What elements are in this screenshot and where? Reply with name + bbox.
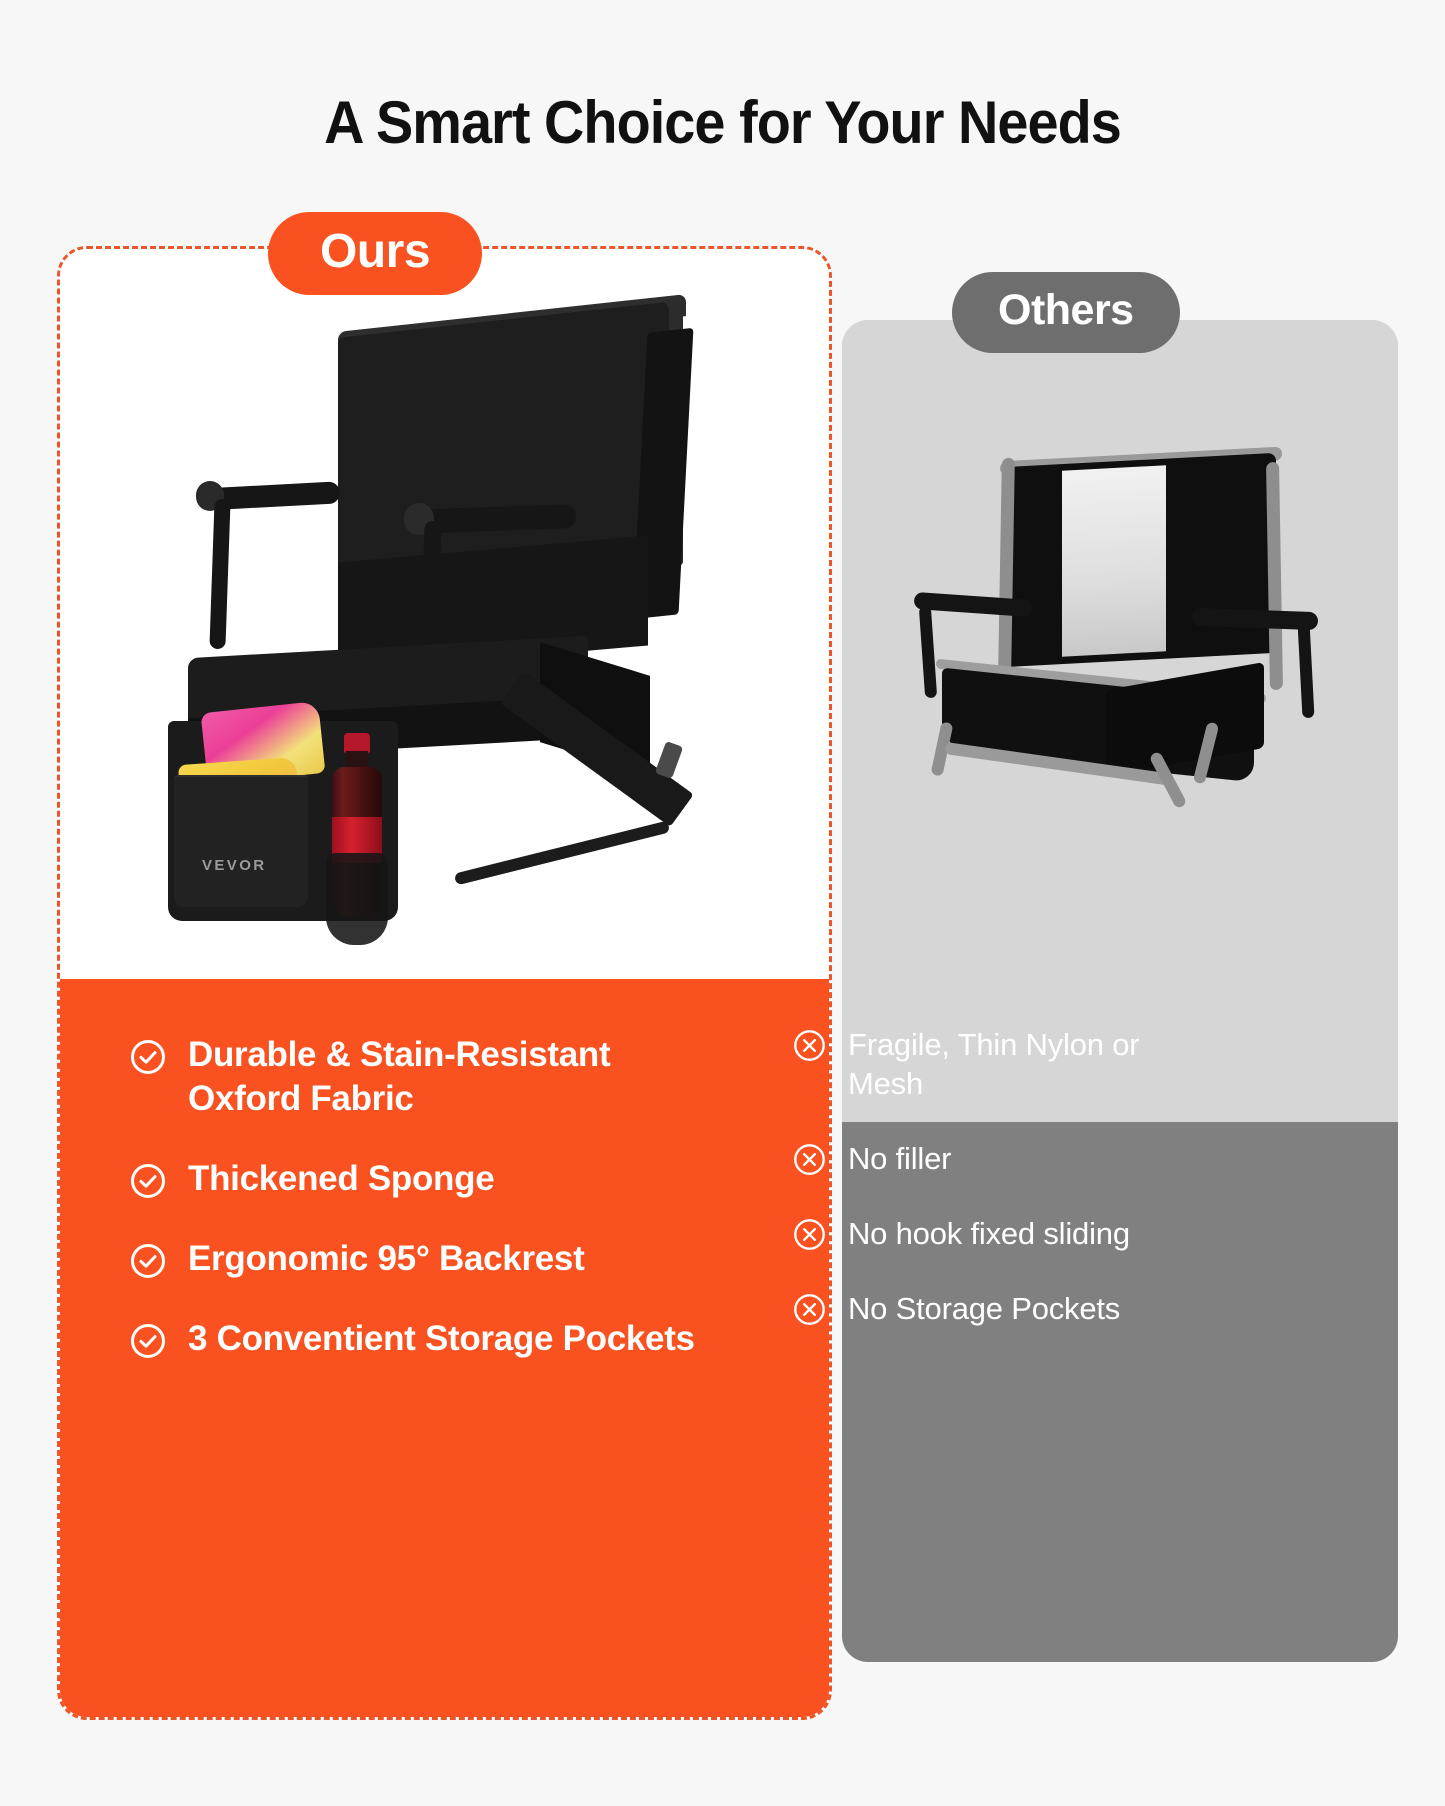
- check-circle-icon: [130, 1243, 166, 1279]
- strap-cord: [454, 821, 670, 886]
- list-item: 3 Conventient Storage Pockets: [130, 1317, 730, 1361]
- check-circle-icon: [130, 1163, 166, 1199]
- others-chair-mesh-panel: [1062, 465, 1166, 656]
- list-item-label: Thickened Sponge: [188, 1157, 494, 1201]
- others-feature-list: Fragile, Thin Nylon or Mesh No filler No…: [793, 1025, 1193, 1328]
- list-item: No hook fixed sliding: [793, 1214, 1193, 1253]
- others-badge: Others: [952, 272, 1180, 353]
- list-item-label: 3 Conventient Storage Pockets: [188, 1317, 695, 1361]
- x-circle-icon: [793, 1143, 826, 1176]
- brand-logo-text: VEVOR: [202, 857, 267, 874]
- ours-product-photo: VEVOR: [60, 249, 832, 979]
- check-circle-icon: [130, 1323, 166, 1359]
- list-item: No filler: [793, 1139, 1193, 1178]
- others-product-photo: [842, 320, 1398, 1122]
- others-chair-frame-right: [1266, 462, 1283, 691]
- soda-bottle: [326, 733, 388, 923]
- list-item: Ergonomic 95° Backrest: [130, 1237, 730, 1281]
- ours-chair-arm-post-left: [209, 499, 230, 649]
- ours-chair-illustration: VEVOR: [140, 309, 760, 959]
- page-title: A Smart Choice for Your Needs: [51, 88, 1395, 157]
- x-circle-icon: [793, 1293, 826, 1326]
- ours-chair-shoulder-strap: [492, 729, 722, 919]
- list-item-label: Fragile, Thin Nylon or Mesh: [848, 1025, 1193, 1103]
- list-item-label: No hook fixed sliding: [848, 1214, 1130, 1253]
- list-item: Fragile, Thin Nylon or Mesh: [793, 1025, 1193, 1103]
- strap-clip: [655, 741, 684, 779]
- x-circle-icon: [793, 1218, 826, 1251]
- list-item: Thickened Sponge: [130, 1157, 730, 1201]
- list-item-label: No filler: [848, 1139, 951, 1178]
- list-item: Durable & Stain-Resistant Oxford Fabric: [130, 1033, 730, 1121]
- bottle-cap: [344, 733, 370, 753]
- check-circle-icon: [130, 1039, 166, 1075]
- ours-badge: Ours: [268, 212, 482, 295]
- comparison-infographic: A Smart Choice for Your Needs: [0, 0, 1445, 1806]
- list-item: No Storage Pockets: [793, 1289, 1193, 1328]
- list-item-label: Durable & Stain-Resistant Oxford Fabric: [188, 1033, 730, 1121]
- others-chair-arm-post-right: [1297, 622, 1314, 718]
- list-item-label: No Storage Pockets: [848, 1289, 1120, 1328]
- others-chair-illustration: [900, 450, 1352, 930]
- ours-card: VEVOR: [57, 246, 832, 1720]
- list-item-label: Ergonomic 95° Backrest: [188, 1237, 584, 1281]
- ours-feature-list: Durable & Stain-Resistant Oxford Fabric …: [130, 1033, 730, 1361]
- x-circle-icon: [793, 1029, 826, 1062]
- others-chair-arm-post-left: [919, 606, 937, 699]
- ours-chair-pocket-front-panel: [174, 775, 308, 907]
- others-card: [842, 320, 1398, 1662]
- bottle-mesh-holder: [326, 853, 388, 945]
